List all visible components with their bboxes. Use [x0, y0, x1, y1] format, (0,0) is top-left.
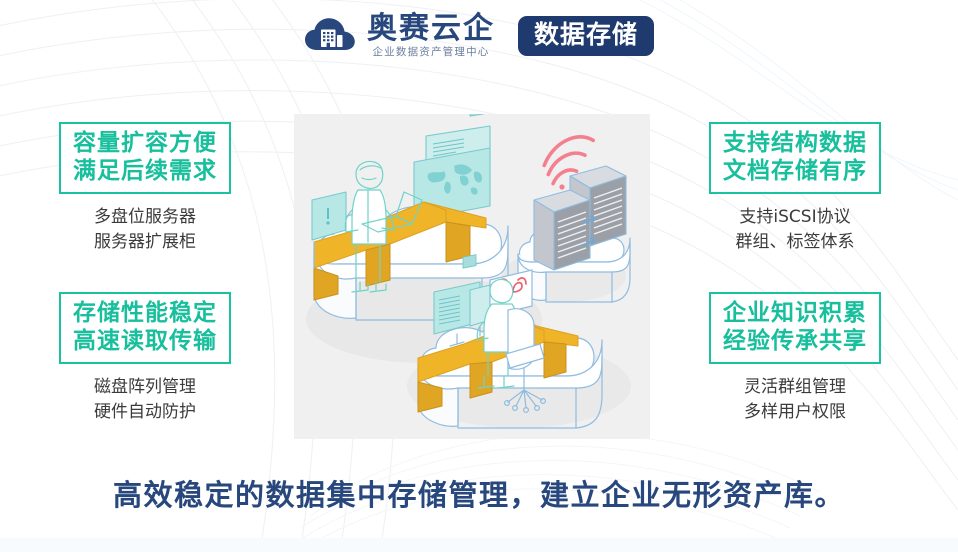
brand-text: 奥赛云企 企业数据资产管理中心	[367, 14, 495, 58]
feature-title-line-1: 企业知识积累	[719, 299, 871, 327]
feature-sub-line-1: 多盘位服务器	[20, 205, 270, 230]
cloud-building-icon	[304, 16, 356, 56]
feature-subtitle: 多盘位服务器 服务器扩展柜	[20, 205, 270, 254]
feature-subtitle: 灵活群组管理 多样用户权限	[670, 375, 920, 424]
footer-caption: 高效稳定的数据集中存储管理，建立企业无形资产库。	[0, 472, 958, 514]
feature-block-right-top: 支持结构数据 文档存储有序 支持iSCSI协议 群组、标签体系	[670, 122, 920, 254]
feature-title-line-1: 存储性能稳定	[69, 299, 221, 327]
feature-sub-line-1: 磁盘阵列管理	[20, 375, 270, 400]
feature-subtitle: 磁盘阵列管理 硬件自动防护	[20, 375, 270, 424]
isometric-cloud-office-illustration: .ob{fill:none;stroke:#8fbce0;stroke-widt…	[294, 114, 650, 439]
feature-block-left-top: 容量扩容方便 满足后续需求 多盘位服务器 服务器扩展柜	[20, 122, 270, 254]
feature-title-box: 容量扩容方便 满足后续需求	[59, 122, 231, 194]
feature-sub-line-2: 硬件自动防护	[20, 400, 270, 425]
feature-title-line-1: 容量扩容方便	[69, 129, 221, 157]
header-badge: 数据存储	[518, 16, 654, 56]
feature-title-line-2: 高速读取传输	[69, 327, 221, 355]
feature-sub-line-2: 多样用户权限	[670, 400, 920, 425]
feature-title-line-1: 支持结构数据	[719, 129, 871, 157]
feature-title-line-2: 文档存储有序	[719, 157, 871, 185]
feature-title-box: 支持结构数据 文档存储有序	[709, 122, 881, 194]
feature-sub-line-2: 服务器扩展柜	[20, 230, 270, 255]
header: 奥赛云企 企业数据资产管理中心 数据存储	[0, 14, 958, 58]
feature-title-line-2: 满足后续需求	[69, 157, 221, 185]
feature-sub-line-2: 群组、标签体系	[670, 230, 920, 255]
feature-title-box: 企业知识积累 经验传承共享	[709, 292, 881, 364]
feature-sub-line-1: 灵活群组管理	[670, 375, 920, 400]
brand-subtitle: 企业数据资产管理中心	[372, 47, 489, 58]
feature-subtitle: 支持iSCSI协议 群组、标签体系	[670, 205, 920, 254]
central-illustration: .ob{fill:none;stroke:#8fbce0;stroke-widt…	[294, 114, 650, 439]
feature-block-right-bottom: 企业知识积累 经验传承共享 灵活群组管理 多样用户权限	[670, 292, 920, 424]
feature-sub-line-1: 支持iSCSI协议	[670, 205, 920, 230]
feature-block-left-bottom: 存储性能稳定 高速读取传输 磁盘阵列管理 硬件自动防护	[20, 292, 270, 424]
feature-title-box: 存储性能稳定 高速读取传输	[59, 292, 231, 364]
feature-title-line-2: 经验传承共享	[719, 327, 871, 355]
brand-title: 奥赛云企	[367, 14, 495, 44]
